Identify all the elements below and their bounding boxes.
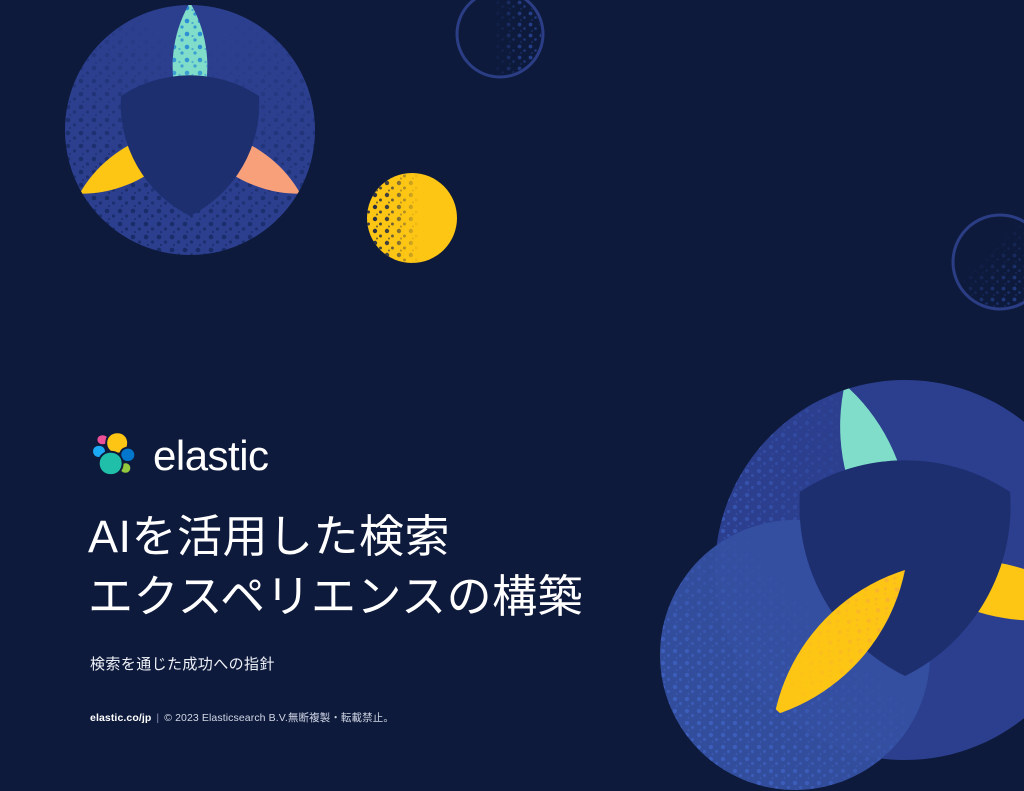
cover-page: elastic AIを活用した検索 エクスペリエンスの構築 検索を通じた成功への… <box>0 0 1024 791</box>
elastic-cluster-logo-icon <box>88 429 140 481</box>
overlap-sphere-bottom-right <box>660 520 940 791</box>
stippled-dot-yellow <box>367 173 457 263</box>
cover-content: elastic AIを活用した検索 エクスペリエンスの構築 検索を通じた成功への… <box>88 425 688 725</box>
legal-footer: elastic.co/jp | © 2023 Elasticsearch B.V… <box>90 710 688 725</box>
page-title: AIを活用した検索 エクスペリエンスの構築 <box>88 507 688 627</box>
page-subtitle: 検索を通じた成功への指針 <box>90 653 688 674</box>
legal-site-link[interactable]: elastic.co/jp <box>90 712 151 724</box>
legal-copyright: © 2023 Elasticsearch B.V.無断複製・転載禁止。 <box>164 710 394 725</box>
elastic-wordmark: elastic <box>153 435 269 477</box>
venn-sphere-top-left <box>0 0 596 489</box>
outline-ring-right <box>953 215 1024 310</box>
legal-separator: | <box>156 712 159 724</box>
brand-lockup: elastic <box>88 425 688 485</box>
outline-ring-top <box>457 0 543 80</box>
